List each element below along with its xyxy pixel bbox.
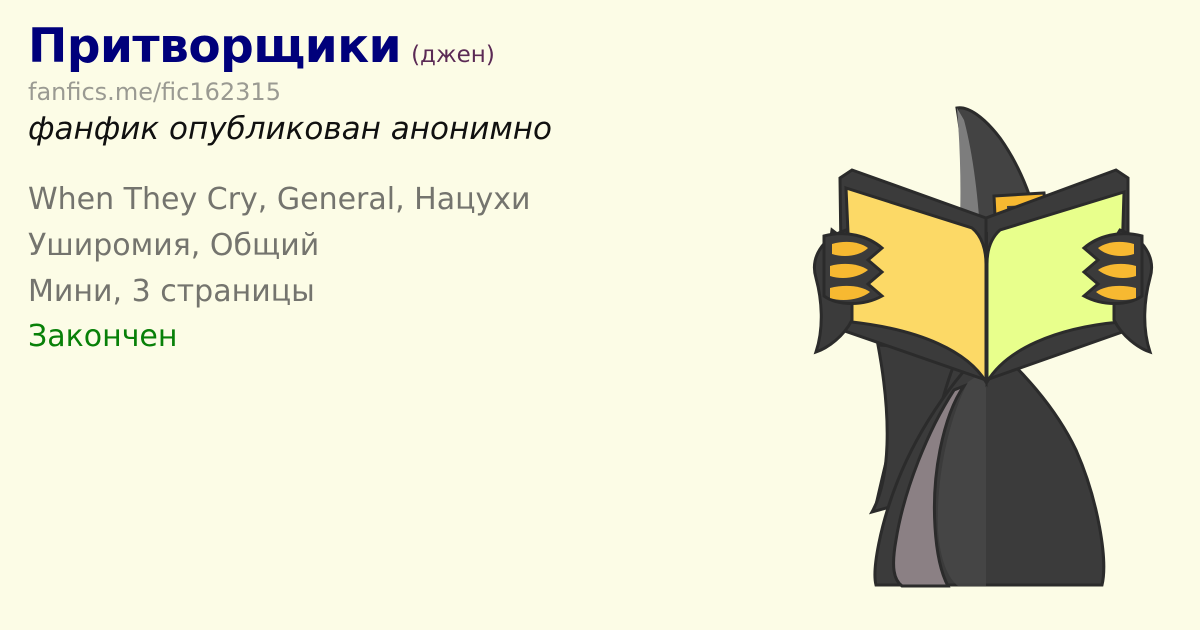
- status-badge: Закончен: [28, 314, 768, 360]
- wizard-reading-book-illustration: [772, 0, 1192, 630]
- genre-label: (джен): [411, 44, 495, 67]
- meta-line-size: Мини, 3 страницы: [28, 269, 768, 315]
- author-note: фанфик опубликован анонимно: [28, 112, 768, 148]
- title-row: Притворщики (джен): [28, 22, 768, 71]
- metadata-block: When They Cry, General, Нацухи Уширомия,…: [28, 177, 768, 359]
- text-column: Притворщики (джен) fanfics.me/fic162315 …: [28, 22, 768, 360]
- source-url: fanfics.me/fic162315: [28, 79, 768, 105]
- fanfic-preview-card: Притворщики (джен) fanfics.me/fic162315 …: [0, 0, 1200, 630]
- page-title: Притворщики: [28, 22, 401, 71]
- meta-line-fandom: When They Cry, General, Нацухи: [28, 177, 768, 223]
- meta-line-characters: Уширомия, Общий: [28, 223, 768, 269]
